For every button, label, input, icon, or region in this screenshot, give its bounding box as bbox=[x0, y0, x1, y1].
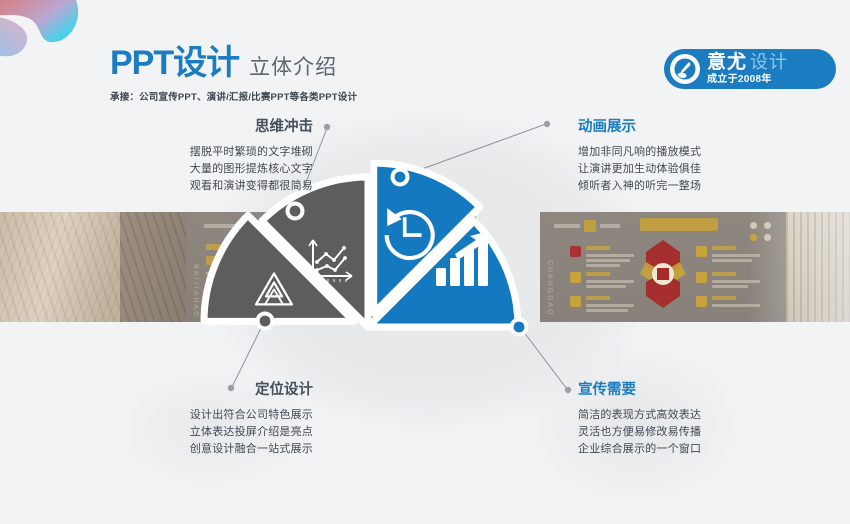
callout-line: 观看和演讲变得都很简易 bbox=[88, 178, 313, 195]
callout-line: 立体表达投屏介绍是亮点 bbox=[85, 424, 313, 441]
callout-top-left: 思维冲击 摆脱平时繁琐的文字堆砌 大量的图形提炼核心文字 观看和演讲变得都很简易 bbox=[88, 120, 313, 195]
callout-line: 大量的图形提炼核心文字 bbox=[88, 161, 313, 178]
node-bottom-right[interactable] bbox=[510, 318, 529, 337]
callout-title: 动画展示 bbox=[578, 120, 813, 135]
node-top-left[interactable] bbox=[286, 202, 305, 221]
callout-line: 增加非同凡响的播放模式 bbox=[578, 144, 813, 161]
callout-bottom-left: 定位设计 设计出符合公司特色展示 立体表达投屏介绍是亮点 创意设计融合一站式展示 bbox=[85, 383, 313, 458]
endpoint-dot-top-left bbox=[324, 124, 330, 130]
node-bottom-left[interactable] bbox=[256, 312, 275, 331]
endpoint-dot-bottom-right bbox=[565, 387, 571, 393]
node-top-right[interactable] bbox=[391, 168, 410, 187]
endpoint-dot-top-right bbox=[544, 121, 550, 127]
callout-line: 倾听者入神的听完一整场 bbox=[578, 178, 813, 195]
callout-title: 定位设计 bbox=[85, 383, 313, 398]
slide-canvas: BAIJIAHAO bbox=[0, 0, 850, 524]
callout-line: 创意设计融合一站式展示 bbox=[85, 441, 313, 458]
callout-title: 宣传需要 bbox=[578, 383, 813, 398]
connector-line-bottom-right bbox=[520, 327, 567, 389]
callout-top-right: 动画展示 增加非同凡响的播放模式 让演讲更加生动体验俱佳 倾听者入神的听完一整场 bbox=[578, 120, 813, 195]
callout-line: 摆脱平时繁琐的文字堆砌 bbox=[88, 144, 313, 161]
callout-line: 简洁的表现方式高效表达 bbox=[578, 407, 813, 424]
connector-line-bottom-left bbox=[232, 320, 265, 387]
callout-title: 思维冲击 bbox=[88, 120, 313, 135]
callout-line: 企业综合展示的一个窗口 bbox=[578, 441, 813, 458]
callout-line: 让演讲更加生动体验俱佳 bbox=[578, 161, 813, 178]
callout-bottom-right: 宣传需要 简洁的表现方式高效表达 灵活也方便易修改易传播 企业综合展示的一个窗口 bbox=[578, 383, 813, 458]
callout-line: 设计出符合公司特色展示 bbox=[85, 407, 313, 424]
callout-line: 灵活也方便易修改易传播 bbox=[578, 424, 813, 441]
